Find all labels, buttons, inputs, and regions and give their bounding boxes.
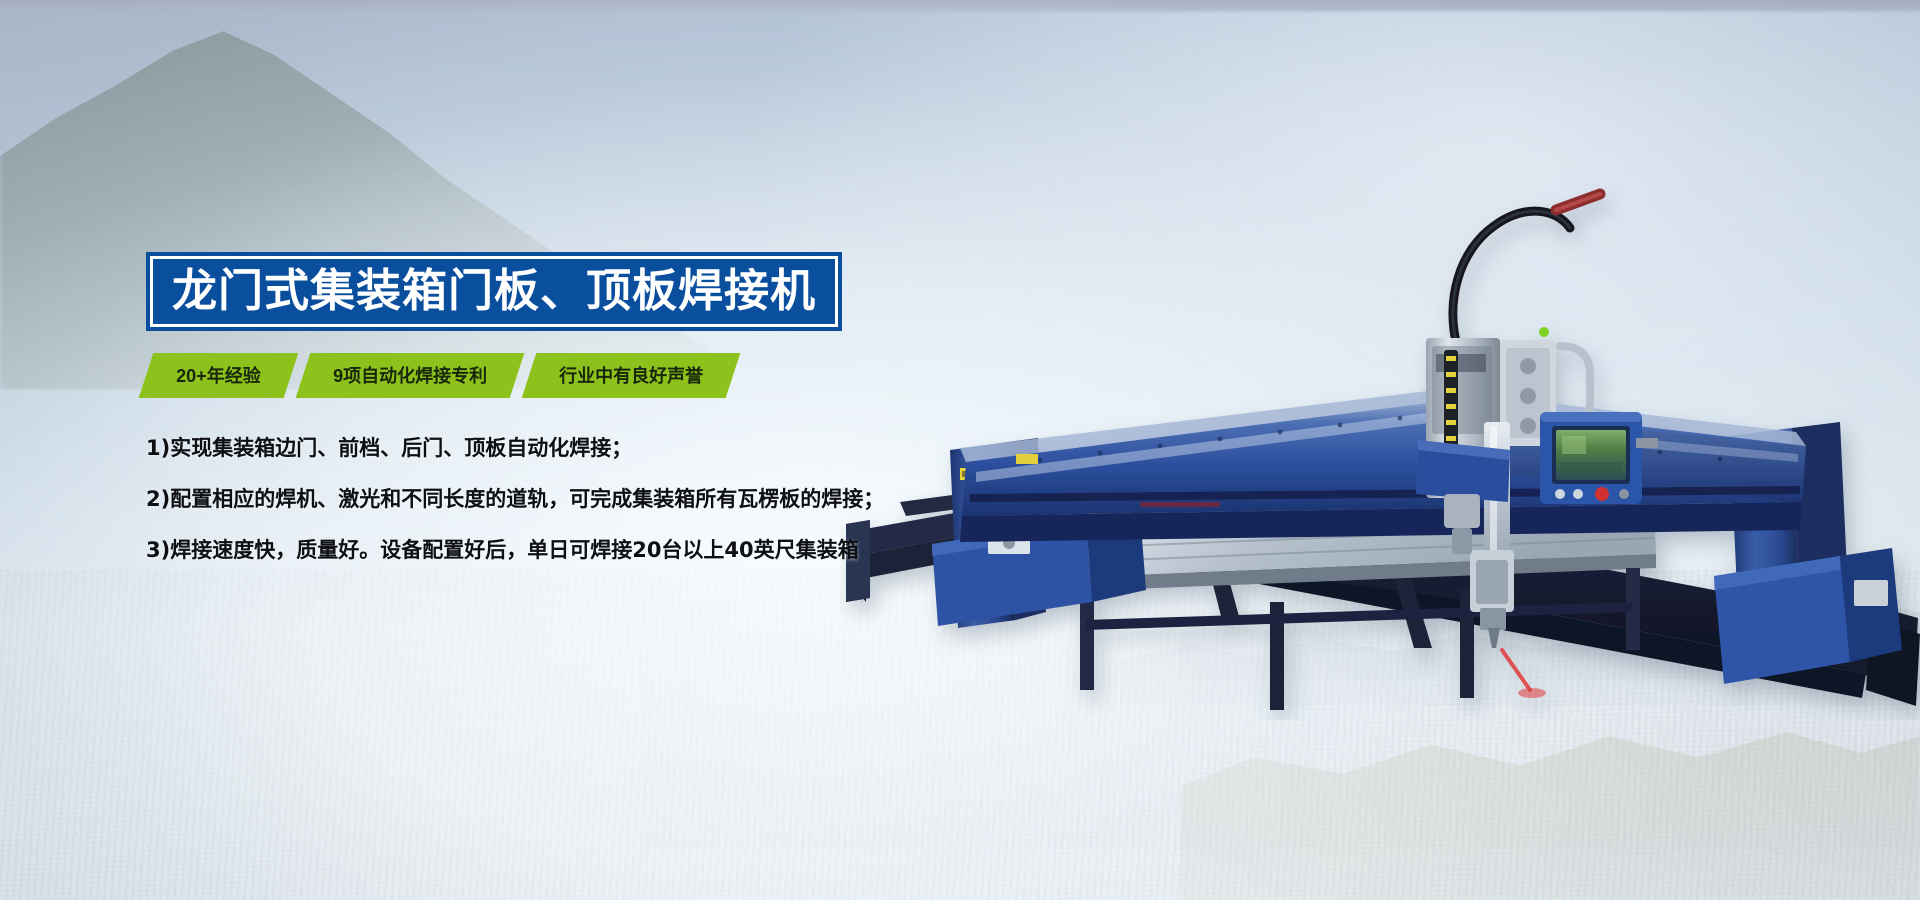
feature-badge-list: 20+年经验 9项自动化焊接专利 行业中有良好声誉 xyxy=(146,353,1096,398)
feature-badge-label: 20+年经验 xyxy=(176,362,261,388)
feature-point: 1)实现集装箱边门、前档、后门、顶板自动化焊接； xyxy=(146,438,1096,459)
feature-badge: 20+年经验 xyxy=(139,353,298,398)
feature-badge-label: 9项自动化焊接专利 xyxy=(333,362,487,388)
page-title: 龙门式集装箱门板、顶板焊接机 xyxy=(172,268,816,313)
feature-badge: 9项自动化焊接专利 xyxy=(295,353,524,398)
feature-point-list: 1)实现集装箱边门、前档、后门、顶板自动化焊接； 2)配置相应的焊机、激光和不同… xyxy=(146,438,1096,561)
feature-badge-label: 行业中有良好声誉 xyxy=(559,362,703,388)
feature-badge: 行业中有良好声誉 xyxy=(521,353,740,398)
product-banner: 龙门式集装箱门板、顶板焊接机 20+年经验 9项自动化焊接专利 行业中有良好声誉… xyxy=(0,0,1920,900)
banner-content: 龙门式集装箱门板、顶板焊接机 20+年经验 9项自动化焊接专利 行业中有良好声誉… xyxy=(146,252,1096,561)
feature-point: 3)焊接速度快，质量好。设备配置好后，单日可焊接20台以上40英尺集装箱 xyxy=(146,540,1096,561)
feature-point: 2)配置相应的焊机、激光和不同长度的道轨，可完成集装箱所有瓦楞板的焊接； xyxy=(146,489,1096,510)
control-panel xyxy=(1540,412,1658,504)
banner-title-box: 龙门式集装箱门板、顶板焊接机 xyxy=(146,252,842,331)
